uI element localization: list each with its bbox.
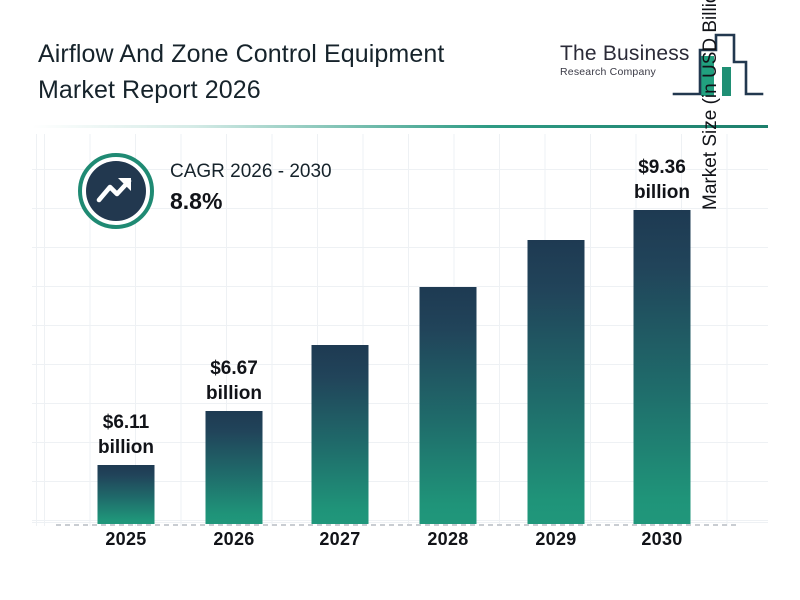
- header: Airflow And Zone Control Equipment Marke…: [0, 0, 800, 122]
- cagr-text-block: CAGR 2026 - 2030 8.8%: [170, 159, 400, 217]
- page-title: Airflow And Zone Control Equipment Marke…: [38, 36, 558, 108]
- company-logo: The Business Research Company: [560, 30, 760, 102]
- bar-2030[interactable]: [634, 210, 691, 524]
- bar-2029[interactable]: [528, 240, 585, 524]
- bar-2026[interactable]: [206, 411, 263, 524]
- company-logo-text: The Business Research Company: [560, 42, 682, 79]
- y-axis-title: Market Size (in USD Billion): [700, 0, 730, 210]
- bar-value-label-2026: $6.67 billion: [170, 356, 298, 406]
- x-tick-2027: 2027: [290, 529, 390, 550]
- page-title-line1: Airflow And Zone Control Equipment: [38, 36, 558, 72]
- bar-value-label-2025: $6.11 billion: [62, 410, 190, 460]
- cagr-badge: CAGR 2026 - 2030 8.8%: [78, 153, 398, 233]
- header-divider: [32, 125, 768, 128]
- x-axis: 2025 2026 2027 2028 2029 2030: [32, 529, 768, 563]
- bar-2025[interactable]: [98, 465, 155, 524]
- company-logo-line1: The Business: [560, 42, 682, 65]
- bar-2028[interactable]: [420, 287, 477, 524]
- x-tick-2026: 2026: [184, 529, 284, 550]
- page-title-line2: Market Report 2026: [38, 72, 558, 108]
- x-tick-2029: 2029: [506, 529, 606, 550]
- chart-page: Airflow And Zone Control Equipment Marke…: [0, 0, 800, 600]
- x-tick-2028: 2028: [398, 529, 498, 550]
- x-tick-2030: 2030: [612, 529, 712, 550]
- bar-slot-2030: $9.36 billion: [612, 134, 712, 524]
- company-logo-line2: Research Company: [560, 65, 682, 79]
- cagr-value-label: 8.8%: [170, 185, 400, 217]
- bar-2027[interactable]: [312, 345, 369, 524]
- cagr-range-label: CAGR 2026 - 2030: [170, 159, 400, 185]
- x-tick-2025: 2025: [76, 529, 176, 550]
- bar-slot-2029: [506, 134, 606, 524]
- bar-slot-2028: [398, 134, 498, 524]
- trending-up-icon: [86, 161, 146, 221]
- cagr-badge-circle: [78, 153, 154, 229]
